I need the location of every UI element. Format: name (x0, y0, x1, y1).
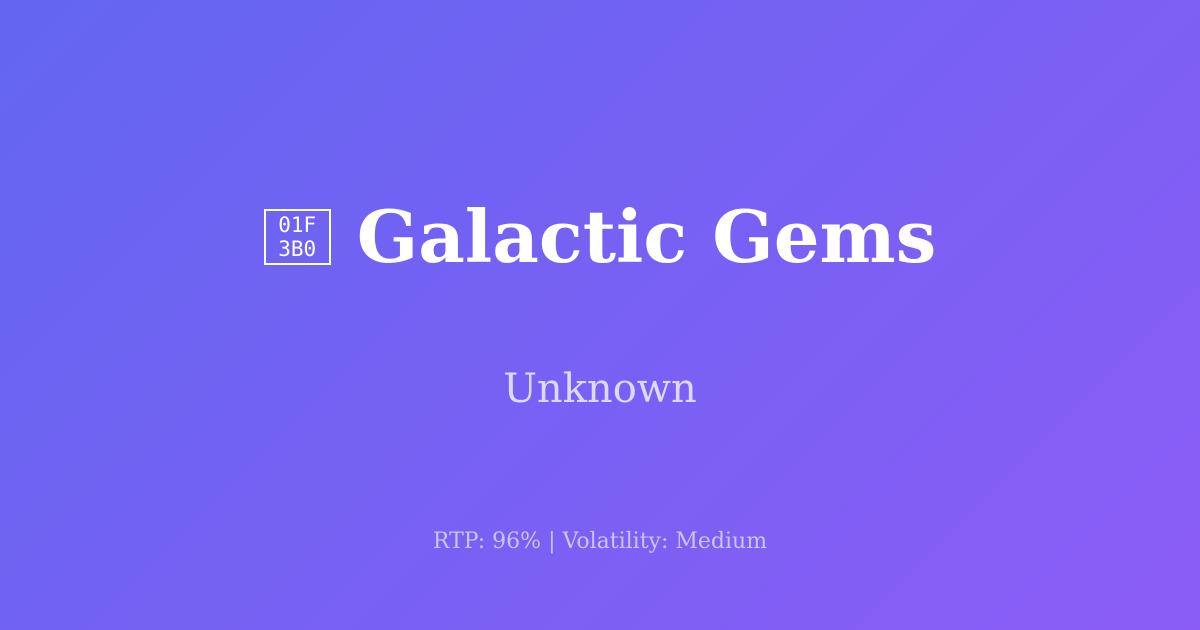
tofu-codepoint-line-2: 3B0 (278, 237, 316, 261)
game-provider-subtitle: Unknown (503, 365, 697, 413)
game-stats-line: RTP: 96% | Volatility: Medium (0, 527, 1200, 557)
game-title: Galactic Gems (357, 199, 937, 275)
slot-machine-emoji-tofu-icon: 01F 3B0 (264, 209, 331, 265)
tofu-codepoint-line-1: 01F (278, 213, 316, 237)
game-preview-card: 01F 3B0 Galactic Gems Unknown RTP: 96% |… (0, 0, 1200, 630)
title-row: 01F 3B0 Galactic Gems (264, 151, 937, 323)
